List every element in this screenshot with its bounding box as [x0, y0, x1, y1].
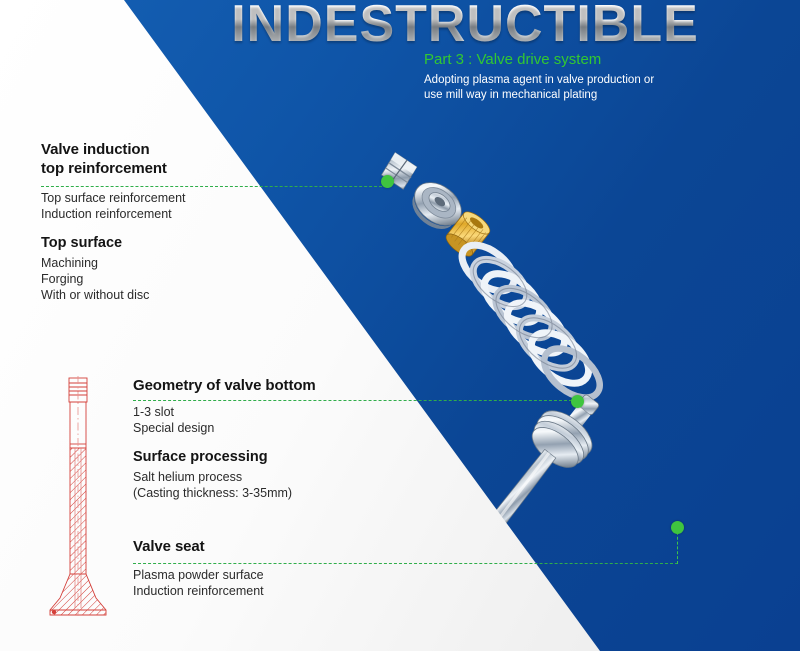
callout-3-item-1: Induction reinforcement	[133, 583, 433, 599]
callout-valve-seat: Valve seat	[133, 538, 433, 557]
callout-1-subheading: Top surface	[41, 234, 341, 252]
page-title: INDESTRUCTIBLE	[225, 0, 705, 54]
callout-1-item-1: Induction reinforcement	[41, 206, 341, 222]
callout-1-subitem-0: Machining	[41, 255, 341, 271]
part-label: Part 3 : Valve drive system	[424, 50, 764, 70]
callout-3-heading: Valve seat	[133, 538, 433, 557]
callout-3-item-0: Plasma powder surface	[133, 567, 433, 583]
callout-2-item-0: 1-3 slot	[133, 404, 453, 420]
description-line-2: use mill way in mechanical plating	[424, 88, 764, 103]
callout-1-body: Top surface reinforcement Induction rein…	[41, 190, 341, 303]
callout-1-item-0: Top surface reinforcement	[41, 190, 341, 206]
marker-top-reinforcement	[381, 175, 394, 188]
callout-1-heading-line-2: top reinforcement	[41, 160, 351, 179]
callout-2-subheading: Surface processing	[133, 448, 453, 466]
callout-valve-induction-top-reinforcement: Valve induction top reinforcement	[41, 141, 351, 178]
marker-valve-bottom-geometry	[571, 395, 584, 408]
callout-2-body: 1-3 slot Special design Surface processi…	[133, 404, 453, 501]
dash-line-callout-3	[133, 563, 678, 564]
callout-2-item-1: Special design	[133, 420, 453, 436]
callout-1-subitem-1: Forging	[41, 271, 341, 287]
callout-2-subitem-0: Salt helium process	[133, 469, 453, 485]
callout-geometry-of-valve-bottom: Geometry of valve bottom	[133, 377, 473, 396]
dash-line-callout-1	[41, 186, 387, 187]
callout-2-subitem-1: (Casting thickness: 3-35mm)	[133, 485, 453, 501]
header-subtitle-block: Part 3 : Valve drive system Adopting pla…	[424, 50, 764, 102]
marker-valve-seat	[671, 521, 684, 534]
callout-3-body: Plasma powder surface Induction reinforc…	[133, 567, 433, 599]
dash-line-callout-2	[133, 400, 577, 401]
callout-1-subitem-2: With or without disc	[41, 287, 341, 303]
description-line-1: Adopting plasma agent in valve productio…	[424, 73, 764, 88]
infographic-poster: INDESTRUCTIBLE Part 3 : Valve drive syst…	[0, 0, 800, 651]
valve-cross-section-drawing	[42, 372, 134, 620]
callout-1-heading-line-1: Valve induction	[41, 141, 351, 160]
callout-2-heading: Geometry of valve bottom	[133, 377, 473, 396]
